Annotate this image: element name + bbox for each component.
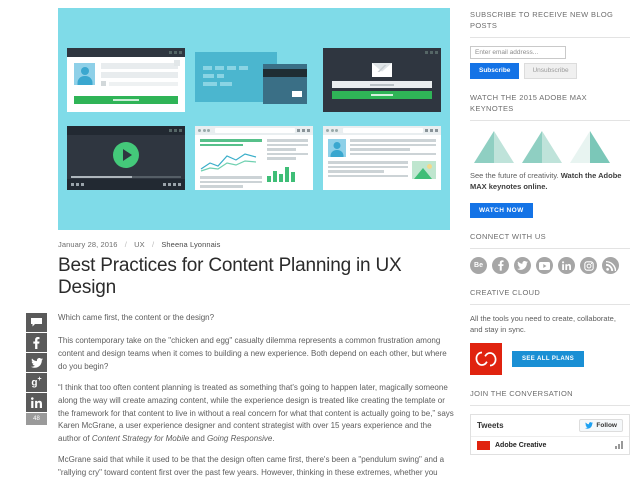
tweet-item[interactable]: Adobe Creative <box>471 437 629 454</box>
twitter-icon[interactable] <box>514 257 531 274</box>
facebook-icon[interactable] <box>492 257 509 274</box>
profile-avatar-icon <box>328 139 346 157</box>
sidebar: Subscribe to Receive New Blog Posts Ente… <box>470 10 630 469</box>
bar-chart-graphic <box>267 166 308 182</box>
conversation-title: Join the Conversation <box>470 389 630 406</box>
linkedin-icon[interactable] <box>558 257 575 274</box>
quote-period: . <box>272 434 274 443</box>
play-icon <box>113 142 139 168</box>
article-meta: January 28, 2016 / UX / Sheena Lyonnais <box>58 240 454 249</box>
keynotes-text: See the future of creativity. Watch the … <box>470 170 630 193</box>
creative-cloud-logo-icon <box>470 343 502 375</box>
line-chart-graphic <box>200 149 262 173</box>
youtube-icon[interactable] <box>536 257 553 274</box>
login-submit-button <box>74 96 178 104</box>
blog-article-page: g+ 48 <box>0 0 640 480</box>
comment-share-button[interactable] <box>26 313 47 332</box>
quote-book-1: Content Strategy for Mobile <box>92 434 189 443</box>
tweets-label: Tweets <box>477 421 504 430</box>
twitter-follow-button[interactable]: Follow <box>579 419 623 432</box>
tweet-stats-icon <box>615 441 623 449</box>
article-paragraph-1: This contemporary take on the "chicken a… <box>58 335 454 373</box>
hero-card-login-form <box>67 48 185 112</box>
creative-cloud-text: All the tools you need to create, collab… <box>470 313 630 336</box>
google-plus-share-button[interactable]: g+ <box>26 373 47 392</box>
article-author[interactable]: Sheena Lyonnais <box>161 240 220 249</box>
twitter-bird-icon <box>585 422 593 429</box>
subscribe-title: Subscribe to Receive New Blog Posts <box>470 10 630 38</box>
article-paragraph-2: McGrane said that while it used to be th… <box>58 454 454 480</box>
email-subscribe-button <box>332 91 432 99</box>
sidebar-block-conversation: Join the Conversation Tweets Follow Adob… <box>470 389 630 455</box>
article-category[interactable]: UX <box>134 240 145 249</box>
social-share-rail: g+ 48 <box>26 313 47 425</box>
see-all-plans-button[interactable]: SEE ALL PLANS <box>512 351 584 367</box>
keynotes-text-plain: See the future of creativity. <box>470 171 561 180</box>
hero-card-video-player <box>67 126 185 190</box>
facebook-share-button[interactable] <box>26 333 47 352</box>
creative-cloud-title: Creative Cloud <box>470 288 630 305</box>
watch-now-button[interactable]: WATCH NOW <box>470 203 533 218</box>
hero-card-email-subscribe <box>323 48 441 112</box>
share-count-badge: 48 <box>26 413 47 425</box>
subscribe-email-input[interactable]: Enter email address... <box>470 46 566 59</box>
twitter-share-button[interactable] <box>26 353 47 372</box>
tweet-avatar <box>477 441 490 450</box>
hero-illustration <box>58 8 450 230</box>
unsubscribe-button[interactable]: Unsubscribe <box>524 63 576 79</box>
meta-separator-1: / <box>125 240 127 249</box>
login-avatar-icon <box>74 63 95 85</box>
hero-card-credit-card <box>195 48 313 112</box>
image-placeholder-icon <box>412 161 436 179</box>
article-pullquote: “I think that too often content planning… <box>58 382 454 445</box>
sidebar-block-keynotes: Watch the 2015 Adobe MAX Keynotes See th… <box>470 93 630 218</box>
quote-book-2: Going Responsive <box>207 434 272 443</box>
tweet-account-name: Adobe Creative <box>495 442 546 449</box>
linkedin-share-button[interactable] <box>26 393 47 412</box>
quote-conjunction: and <box>189 434 207 443</box>
sidebar-block-creative-cloud: Creative Cloud All the tools you need to… <box>470 288 630 374</box>
sidebar-block-subscribe: Subscribe to Receive New Blog Posts Ente… <box>470 10 630 79</box>
article-body: January 28, 2016 / UX / Sheena Lyonnais … <box>58 240 454 480</box>
max-keynotes-artwork <box>470 129 630 163</box>
subscribe-button[interactable]: Subscribe <box>470 63 519 79</box>
twitter-timeline-widget: Tweets Follow Adobe Creative <box>470 414 630 455</box>
page-title: Best Practices for Content Planning in U… <box>58 255 454 300</box>
connect-title: Connect With Us <box>470 232 630 249</box>
behance-icon[interactable]: Be <box>470 257 487 274</box>
article-lede: Which came first, the content or the des… <box>58 312 454 325</box>
rss-icon[interactable] <box>602 257 619 274</box>
hero-card-analytics-dashboard <box>195 126 313 190</box>
keynotes-title: Watch the 2015 Adobe MAX Keynotes <box>470 93 630 121</box>
envelope-icon <box>372 63 392 77</box>
meta-separator-2: / <box>152 240 154 249</box>
instagram-icon[interactable] <box>580 257 597 274</box>
follow-label: Follow <box>596 422 617 429</box>
sidebar-block-connect: Connect With Us Be <box>470 232 630 274</box>
hero-card-article-profile <box>323 126 441 190</box>
article-date: January 28, 2016 <box>58 240 118 249</box>
